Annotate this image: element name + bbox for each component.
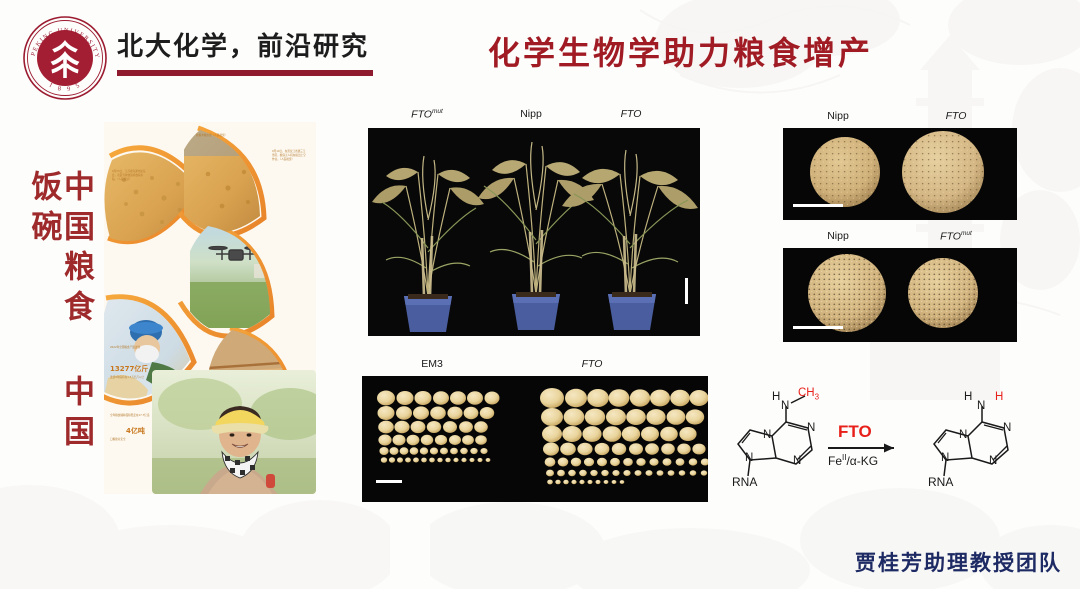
peking-university-seal: PEKING UNIVERSITY 1 8 9 5 <box>21 13 109 103</box>
grain-bottom-label-0: Nipp <box>793 230 883 242</box>
product-ring-n-4: N <box>941 452 949 464</box>
rice-plant-label-2: FTO <box>596 108 666 120</box>
substrate-methyl-label: CH3 <box>798 387 819 401</box>
cofactor-label: FeII/α-KG <box>828 453 878 468</box>
vertical-slogan: 中国粮食 中国饭碗 <box>38 170 92 460</box>
grain-top-scalebar <box>793 204 843 207</box>
potato-tuber-photo <box>362 376 708 502</box>
rice-plant-panel: FTOmut Nipp FTO <box>368 108 700 336</box>
fto-demethylation-scheme: H N CH3 N N N N RNA H N H N N N N RNA FT… <box>712 382 1060 500</box>
potato-scalebar <box>376 480 402 483</box>
product-ring-n-2: N <box>1003 422 1011 434</box>
poster-stat-label: 2022年全国粮食产量达到 <box>110 346 148 350</box>
fto-enzyme-label: FTO <box>838 422 872 442</box>
poster-caption-1: 9月23日，江苏省南通市如东县，农民驾驶收割机收获水稻。（人民视觉） <box>112 170 146 181</box>
grain-top-label-1: FTO <box>911 110 1001 122</box>
product-ring-n-3: N <box>989 455 997 467</box>
rice-plant-label-1: Nipp <box>496 108 566 120</box>
poster-stat2-note: 口粮绝对安全 <box>110 438 150 442</box>
poster-stat2-label: 全年粮食播种面积稳定在17.7亿亩 <box>110 414 150 418</box>
rice-plant-label-0: FTOmut <box>392 108 462 121</box>
substrate-ring-n-3: N <box>793 455 801 467</box>
rice-grain-photo-bottom <box>783 248 1017 342</box>
slide-canvas: PEKING UNIVERSITY 1 8 9 5 北大化学，前沿研究 化学生物… <box>0 0 1080 589</box>
substrate-rna-label: RNA <box>732 475 757 489</box>
product-nh-left-label: H <box>964 391 972 403</box>
substrate-ring-n-4: N <box>745 452 753 464</box>
rice-grain-photo-top <box>783 128 1017 220</box>
substrate-ring-n-2: N <box>807 422 815 434</box>
product-n-label: N <box>977 400 985 412</box>
rice-plant-photo <box>368 128 700 336</box>
product-ring-n-1: N <box>959 429 967 441</box>
potato-label-1: FTO <box>552 358 632 370</box>
substrate-n-label: N <box>781 400 789 412</box>
poster-caption-3: 9月10日，在黑龙江省建三江垦区，植保无人机在稻田上空作业。（人民视觉） <box>272 150 308 161</box>
grain-poster-image: 9月23日，江苏省南通市如东县，农民驾驶收割机收获水稻。（人民视觉） 秋粮丰收在… <box>104 122 316 494</box>
poster-stat2-value: 4亿吨 <box>126 426 145 436</box>
potato-tuber-panel: EM3 FTO <box>362 358 708 502</box>
grain-top-label-0: Nipp <box>793 110 883 122</box>
poster-stat-value: 13277亿斤 <box>110 364 148 374</box>
grain-panel-top: Nipp FTO <box>783 110 1042 220</box>
team-credit: 贾桂芳助理教授团队 <box>855 547 1062 577</box>
grain-panel-bottom: Nipp FTOmut <box>783 230 1042 342</box>
brand-text: 北大化学，前沿研究 <box>117 26 369 63</box>
substrate-ring-n-1: N <box>763 429 771 441</box>
poster-caption-2: 秋粮丰收在望（人民视觉） <box>196 134 232 138</box>
grain-bottom-scalebar <box>793 326 843 329</box>
poster-stat-note: 连续8年保持在1.3万亿斤以上 <box>110 376 150 380</box>
substrate-nh-label: H <box>772 391 780 403</box>
product-nh-right-label: H <box>995 391 1003 403</box>
rice-plant-scalebar <box>685 278 688 304</box>
header-underline <box>117 70 373 76</box>
page-title: 化学生物学助力粮食增产 <box>488 28 873 74</box>
product-rna-label: RNA <box>928 475 953 489</box>
potato-label-0: EM3 <box>392 358 472 370</box>
grain-bottom-label-1: FTOmut <box>911 230 1001 243</box>
